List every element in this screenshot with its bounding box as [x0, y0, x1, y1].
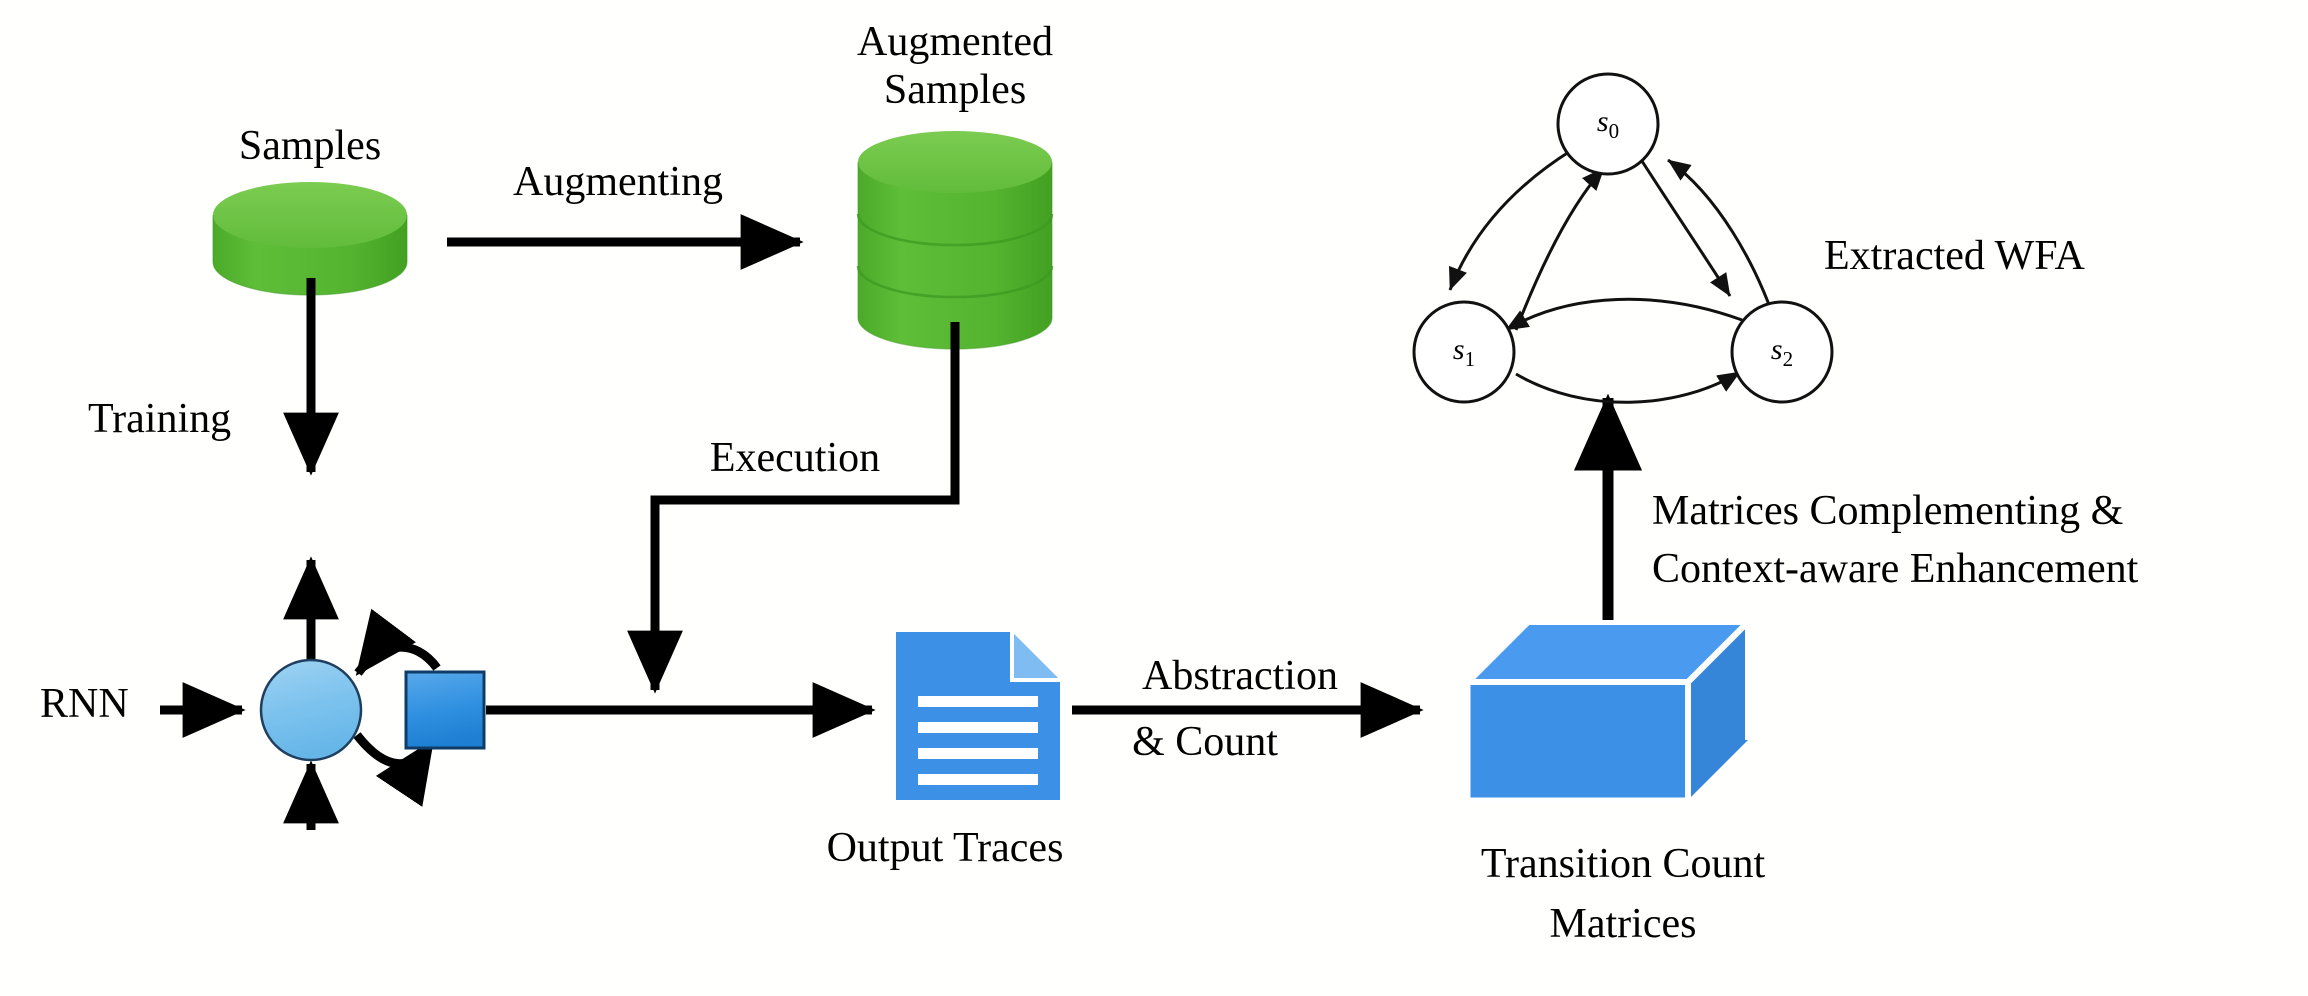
state-label-s0: s0 — [1597, 104, 1619, 144]
rnn-cell-icon — [160, 560, 484, 830]
document-icon — [896, 632, 1060, 800]
training-edge-label: Training — [88, 395, 231, 445]
transition-count-matrices-label-line1: Transition Count — [1481, 840, 1765, 890]
augmented-samples-label-line1: Augmented — [857, 18, 1053, 68]
transition-count-matrices-label-line2: Matrices — [1550, 900, 1697, 950]
matrices-complementing-label-line2: Context-aware Enhancement — [1652, 545, 2138, 595]
matrices-complementing-label-line1: Matrices Complementing & — [1652, 487, 2123, 537]
state-s2-subscript: 2 — [1783, 347, 1794, 371]
state-label-s2: s2 — [1771, 332, 1793, 372]
state-s0-subscript: 0 — [1609, 119, 1620, 143]
state-s0-base: s — [1597, 105, 1609, 138]
state-label-s1: s1 — [1453, 332, 1475, 372]
diagram-canvas: Samples Augmented Samples Augmenting Tra… — [0, 0, 2308, 996]
execution-edge-label: Execution — [710, 434, 880, 484]
rnn-label: RNN — [40, 680, 129, 730]
automaton-icon — [1414, 74, 1832, 402]
cube-icon — [1468, 622, 1748, 800]
augmented-samples-label-line2: Samples — [884, 66, 1026, 116]
extracted-wfa-label: Extracted WFA — [1824, 232, 2085, 282]
augmented-samples-cylinder-icon — [858, 131, 1052, 349]
state-s1-subscript: 1 — [1465, 347, 1476, 371]
state-s2-base: s — [1771, 333, 1783, 366]
augmenting-edge-label: Augmenting — [513, 158, 723, 208]
state-s1-base: s — [1453, 333, 1465, 366]
abstraction-count-label-line1: Abstraction — [1142, 652, 1338, 702]
samples-label: Samples — [239, 122, 381, 172]
output-traces-label: Output Traces — [827, 824, 1064, 874]
abstraction-count-label-line2: & Count — [1132, 718, 1278, 768]
